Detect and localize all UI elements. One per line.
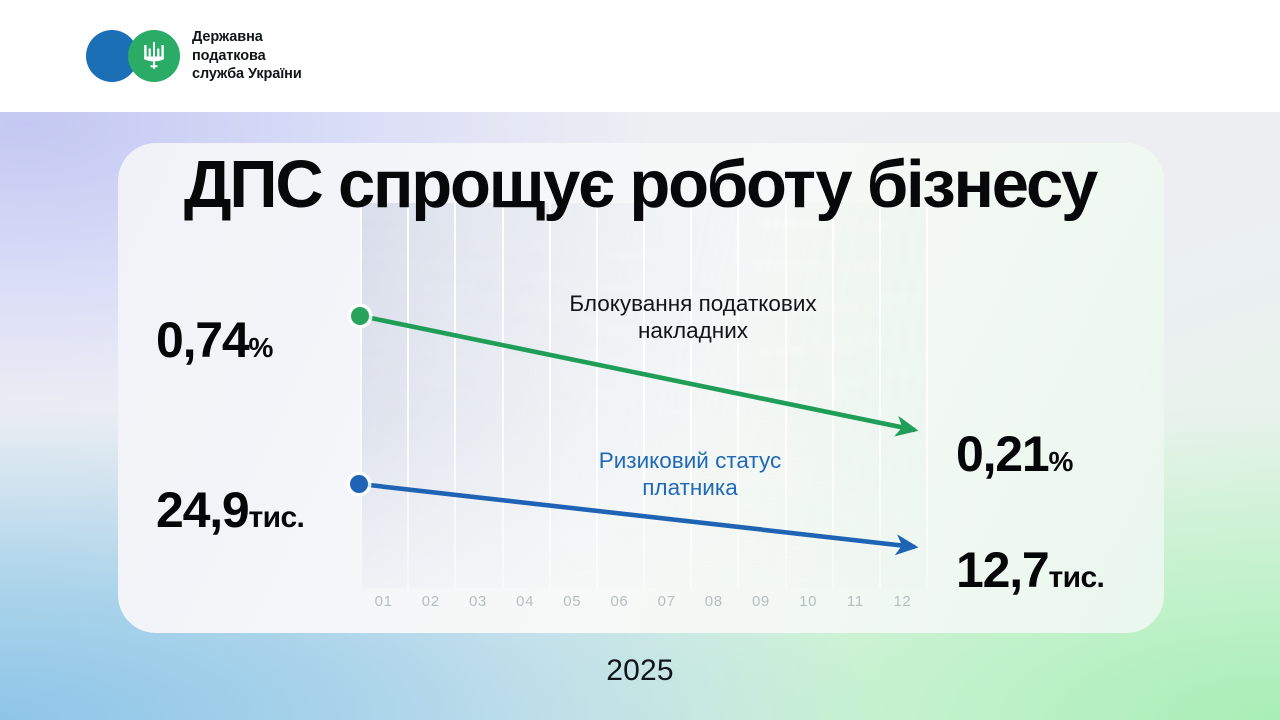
value-start-green-number: 0,74 xyxy=(156,312,249,368)
value-end-green-suffix: % xyxy=(1049,446,1073,477)
org-line-3: служба України xyxy=(192,65,302,84)
page-title: ДПС спрощує роботу бізнесу xyxy=(0,151,1280,218)
series-start-dot-green xyxy=(351,307,369,325)
value-start-green: 0,74% xyxy=(156,311,273,369)
value-start-green-suffix: % xyxy=(249,332,273,363)
trident-icon xyxy=(143,41,165,71)
value-end-blue: 12,7тис. xyxy=(956,541,1104,599)
org-line-2: податкова xyxy=(192,47,302,66)
value-start-blue-suffix: тис. xyxy=(249,501,305,534)
value-end-green-number: 0,21 xyxy=(956,426,1049,482)
value-start-blue-number: 24,9 xyxy=(156,482,249,538)
header-bar: Державна податкова служба України xyxy=(0,0,1280,112)
series-caption-green: Блокування податкових накладних xyxy=(488,291,898,344)
organization-name: Державна податкова служба України xyxy=(192,28,302,84)
org-line-1: Державна xyxy=(192,28,302,47)
series-caption-blue: Ризиковий статус платника xyxy=(520,448,860,501)
value-start-blue: 24,9тис. xyxy=(156,481,304,539)
value-end-blue-suffix: тис. xyxy=(1049,561,1105,594)
value-end-green: 0,21% xyxy=(956,425,1073,483)
logo-green-circle-icon xyxy=(128,30,180,82)
series-start-dot-blue xyxy=(350,475,368,493)
logo-marks xyxy=(86,30,186,82)
chart-year-label: 2025 xyxy=(0,654,1280,688)
organization-logo: Державна податкова служба України xyxy=(86,28,302,84)
value-end-blue-number: 12,7 xyxy=(956,542,1049,598)
